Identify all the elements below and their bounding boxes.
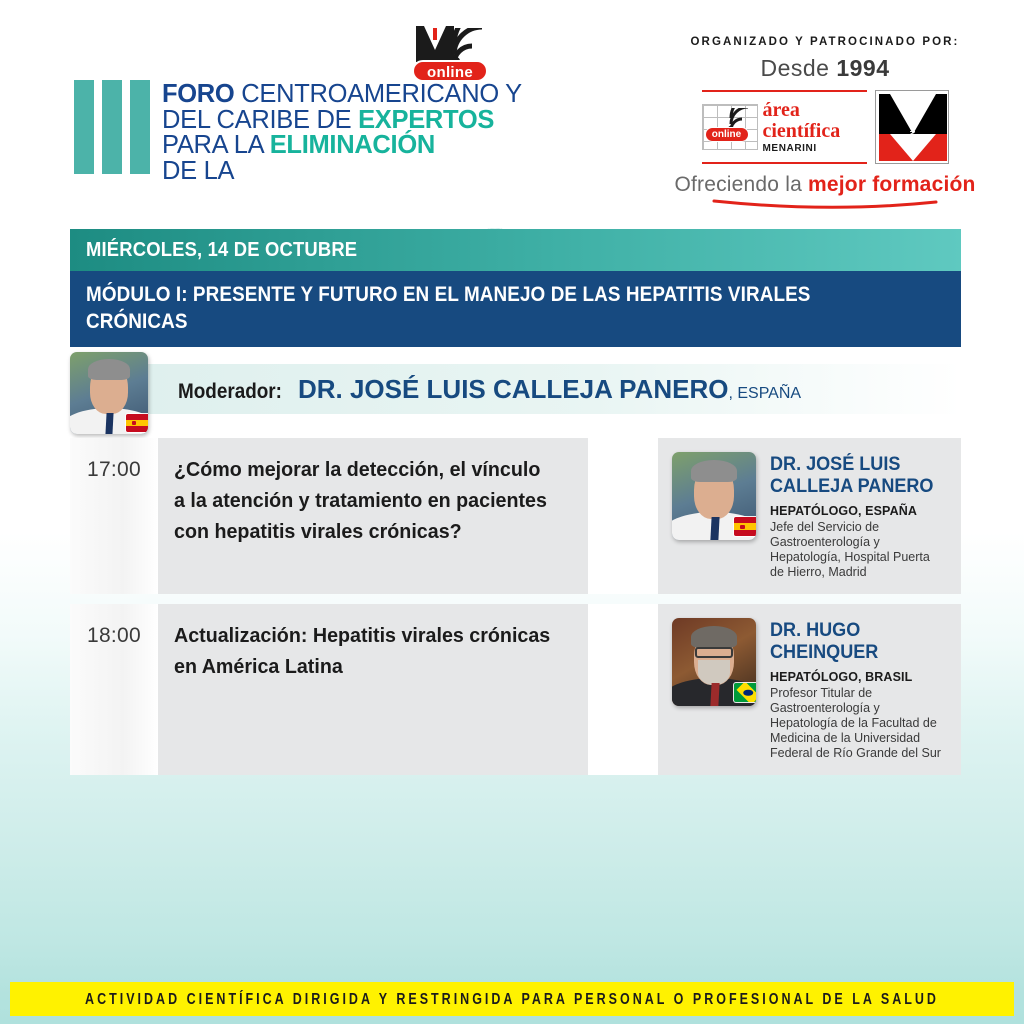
spain-flag-icon (126, 414, 148, 432)
table-row[interactable]: 18:00 Actualización: Hepatitis virales c… (70, 604, 961, 775)
moderator-country: , ESPAÑA (728, 385, 801, 402)
logo-line4-a: DE LA (162, 157, 234, 185)
schedule-bands: MIÉRCOLES, 14 DE OCTUBRE MÓDULO I: PRESE… (70, 229, 961, 347)
speaker-affiliation: Profesor Titular de Gastroenterología y … (770, 686, 947, 761)
day-label: MIÉRCOLES, 14 DE OCTUBRE (86, 239, 357, 262)
session-speaker-cell: DR. HUGO CHEINQUER HEPATÓLOGO, BRASIL Pr… (658, 604, 961, 775)
module-title: MÓDULO I: PRESENTE Y FUTURO EN EL MANEJO… (86, 281, 859, 335)
logo-expertos-word: EXPERTOS (358, 106, 494, 134)
roman-numeral-three (74, 80, 150, 174)
row-separator (70, 594, 961, 604)
module-band: MÓDULO I: PRESENTE Y FUTURO EN EL MANEJO… (70, 271, 961, 347)
event-logo: FORO CENTROAMERICANO Y DEL CARIBE DE EXP… (74, 80, 504, 210)
logo-line1-rest: CENTROAMERICANO Y (234, 80, 521, 108)
logo-line-1: FORO CENTROAMERICANO Y (162, 82, 508, 108)
menarini-vertical-word: MENARINI (908, 97, 915, 140)
tagline-part-b: mejor formación (808, 173, 976, 196)
speaker-photo (672, 452, 756, 540)
speaker-role: HEPATÓLOGO, ESPAÑA (770, 504, 947, 518)
session-time: 17:00 (87, 458, 141, 481)
speaker-name: DR. JOSÉ LUIS CALLEJA PANERO (770, 454, 938, 498)
logo-line-4: DE LA (162, 159, 508, 185)
speaker-info: DR. HUGO CHEINQUER HEPATÓLOGO, BRASIL Pr… (770, 618, 947, 761)
sponsor-logos: online área científica MENARINI MENARINI (660, 90, 990, 164)
logo-line-2: DEL CARIBE DE EXPERTOS (162, 108, 508, 134)
sponsor-block: ORGANIZADO Y PATROCINADO POR: Desde 1994… (660, 36, 990, 209)
speaker-name-line1: DR. JOSÉ LUIS (770, 454, 938, 476)
day-band: MIÉRCOLES, 14 DE OCTUBRE (70, 229, 961, 271)
tagline-part-a: Ofreciendo la (674, 173, 808, 196)
since-year: 1994 (836, 55, 889, 81)
tagline: Ofreciendo la mejor formación (660, 173, 990, 197)
speaker-photo (672, 618, 756, 706)
monline-logo: online (406, 26, 498, 84)
speaker-info: DR. JOSÉ LUIS CALLEJA PANERO HEPATÓLOGO,… (770, 452, 947, 580)
session-title: ¿Cómo mejorar la detección, el vínculo a… (174, 454, 556, 547)
moderator-name: DR. JOSÉ LUIS CALLEJA PANERO (298, 374, 729, 404)
since-line: Desde 1994 (660, 55, 990, 82)
logo-line-3: PARA LA ELIMINACIÓN (162, 133, 508, 159)
logo-line3-a: PARA LA (162, 131, 270, 159)
table-row[interactable]: 17:00 ¿Cómo mejorar la detección, el vín… (70, 438, 961, 594)
session-title-cell: Actualización: Hepatitis virales crónica… (158, 604, 588, 775)
area-cientifica-logo: online área científica MENARINI (702, 90, 867, 164)
monline-pill-label: online (412, 60, 488, 82)
footer-notice-text: ACTIVIDAD CIENTÍFICA DIRIGIDA Y RESTRING… (85, 990, 939, 1008)
spain-flag-icon (734, 517, 756, 536)
speaker-affiliation: Jefe del Servicio de Gastroenterología y… (770, 520, 947, 580)
session-title: Actualización: Hepatitis virales crónica… (174, 620, 556, 682)
monline-m-stem (433, 28, 437, 40)
since-label: Desde (760, 55, 836, 81)
session-time: 18:00 (87, 624, 141, 647)
moderator-label: Moderador: (178, 380, 282, 404)
speaker-role: HEPATÓLOGO, BRASIL (770, 670, 947, 684)
logo-line2-a: DEL CARIBE DE (162, 106, 358, 134)
area-online-pill: online (705, 127, 749, 142)
session-title-cell: ¿Cómo mejorar la detección, el vínculo a… (158, 438, 588, 594)
speaker-name-line2: CALLEJA PANERO (770, 476, 938, 498)
area-grid-icon: online (702, 104, 758, 150)
session-time-cell: 18:00 (70, 604, 158, 775)
moderator-photo (70, 352, 148, 434)
area-cientifica-text: área científica MENARINI (763, 100, 841, 154)
speaker-name-line1: DR. HUGO CHEINQUER (770, 620, 938, 664)
column-gap (588, 604, 658, 775)
session-table: 17:00 ¿Cómo mejorar la detección, el vín… (70, 438, 961, 775)
moderator-text: Moderador: DR. JOSÉ LUIS CALLEJA PANERO,… (178, 374, 801, 405)
area-word: área (763, 100, 841, 120)
cientifica-word: científica (763, 121, 841, 141)
brazil-flag-icon (734, 683, 756, 702)
organized-by-label: ORGANIZADO Y PATROCINADO POR: (660, 36, 990, 48)
menarini-logo: MENARINI (875, 90, 949, 164)
tagline-swoosh-icon (710, 199, 940, 209)
session-time-cell: 17:00 (70, 438, 158, 594)
menarini-subword: MENARINI (763, 144, 841, 154)
event-logo-text: FORO CENTROAMERICANO Y DEL CARIBE DE EXP… (162, 82, 508, 184)
speaker-name: DR. HUGO CHEINQUER (770, 620, 938, 664)
column-gap (588, 438, 658, 594)
moderator-row: Moderador: DR. JOSÉ LUIS CALLEJA PANERO,… (70, 352, 961, 438)
page-header: online FORO CENTROAMERICANO Y DEL CARIBE… (0, 0, 1024, 226)
logo-eliminacion-word: ELIMINACIÓN (270, 131, 435, 159)
logo-foro-word: FORO (162, 80, 234, 108)
footer-notice-banner: ACTIVIDAD CIENTÍFICA DIRIGIDA Y RESTRING… (10, 982, 1014, 1016)
session-speaker-cell: DR. JOSÉ LUIS CALLEJA PANERO HEPATÓLOGO,… (658, 438, 961, 594)
